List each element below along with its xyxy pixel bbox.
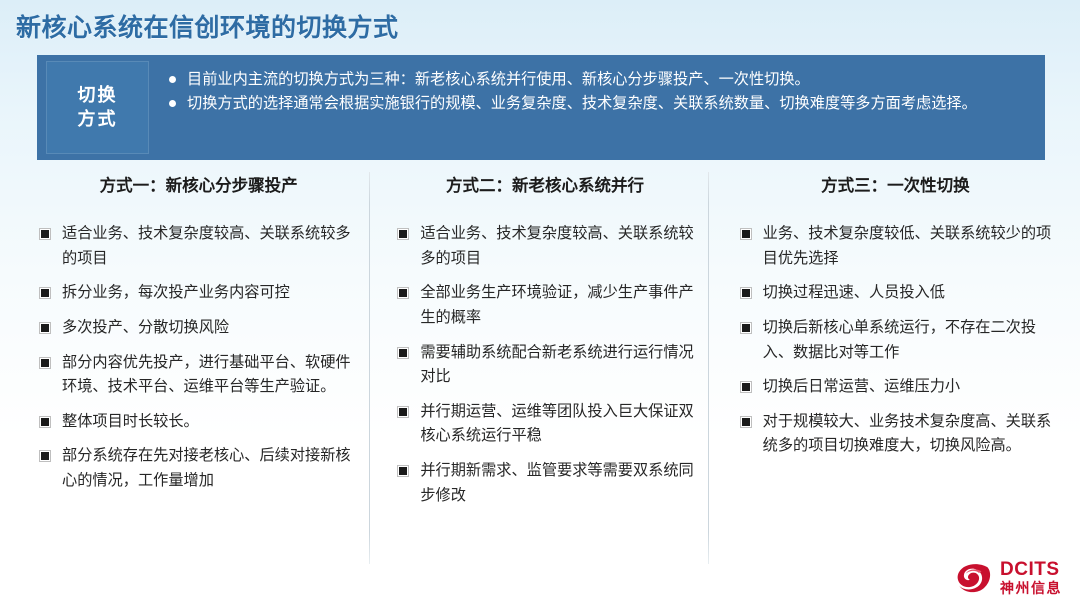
list-item: 需要辅助系统配合新老系统进行运行情况对比 [398,341,697,390]
list-item: 部分系统存在先对接老核心、后续对接新核心的情况，工作量增加 [40,444,357,493]
list-item: 切换过程迅速、人员投入低 [741,281,1054,306]
list-item: 对于规模较大、业务技术复杂度高、关联系统多的项目切换难度大，切换风险高。 [741,410,1054,459]
intro-bullet: 目前业内主流的切换方式为三种：新老核心系统并行使用、新核心分步骤投产、一次性切换… [167,68,1031,91]
list-item: 部分内容优先投产，进行基础平台、软硬件环境、技术平台、运维平台等生产验证。 [40,351,357,400]
page-title: 新核心系统在信创环境的切换方式 [16,8,399,44]
logo-text-cn: 神州信息 [1000,581,1062,596]
column-bullet-list: 适合业务、技术复杂度较高、关联系统较多的项目 全部业务生产环境验证，减少生产事件… [398,222,697,508]
column-heading: 方式一：新核心分步骤投产 [40,172,357,196]
swirl-icon [954,561,994,595]
logo-text: DCITS 神州信息 [1000,560,1062,596]
column-method-three: 方式三：一次性切换 业务、技术复杂度较低、关联系统较少的项目优先选择 切换过程迅… [709,172,1062,564]
intro-label-box: 切换 方式 [46,61,149,154]
logo-text-en: DCITS [1000,560,1062,580]
list-item: 并行期运营、运维等团队投入巨大保证双核心系统运行平稳 [398,400,697,449]
company-logo: DCITS 神州信息 [954,560,1062,596]
list-item: 切换后日常运营、运维压力小 [741,375,1054,400]
list-item: 拆分业务，每次投产业务内容可控 [40,281,357,306]
intro-label-line-2: 方式 [78,108,118,131]
list-item: 适合业务、技术复杂度较高、关联系统较多的项目 [398,222,697,271]
list-item: 并行期新需求、监管要求等需要双系统同步修改 [398,459,697,508]
list-item: 业务、技术复杂度较低、关联系统较少的项目优先选择 [741,222,1054,271]
list-item: 切换后新核心单系统运行，不存在二次投入、数据比对等工作 [741,316,1054,365]
list-item: 适合业务、技术复杂度较高、关联系统较多的项目 [40,222,357,271]
column-bullet-list: 业务、技术复杂度较低、关联系统较少的项目优先选择 切换过程迅速、人员投入低 切换… [741,222,1054,459]
column-bullet-list: 适合业务、技术复杂度较高、关联系统较多的项目 拆分业务，每次投产业务内容可控 多… [40,222,357,494]
column-method-one: 方式一：新核心分步骤投产 适合业务、技术复杂度较高、关联系统较多的项目 拆分业务… [18,172,369,564]
list-item: 多次投产、分散切换风险 [40,316,357,341]
list-item: 全部业务生产环境验证，减少生产事件产生的概率 [398,281,697,330]
intro-banner: 切换 方式 目前业内主流的切换方式为三种：新老核心系统并行使用、新核心分步骤投产… [37,55,1045,160]
slide-canvas: 新核心系统在信创环境的切换方式 切换 方式 目前业内主流的切换方式为三种：新老核… [0,0,1080,608]
intro-label-line-1: 切换 [78,84,118,107]
comparison-columns: 方式一：新核心分步骤投产 适合业务、技术复杂度较高、关联系统较多的项目 拆分业务… [18,172,1062,564]
column-heading: 方式二：新老核心系统并行 [392,172,697,196]
column-heading: 方式三：一次性切换 [737,172,1054,196]
column-method-two: 方式二：新老核心系统并行 适合业务、技术复杂度较高、关联系统较多的项目 全部业务… [370,172,707,564]
list-item: 整体项目时长较长。 [40,410,357,435]
intro-bullet-list: 目前业内主流的切换方式为三种：新老核心系统并行使用、新核心分步骤投产、一次性切换… [167,68,1031,116]
intro-bullet: 切换方式的选择通常会根据实施银行的规模、业务复杂度、技术复杂度、关联系统数量、切… [167,92,1031,115]
